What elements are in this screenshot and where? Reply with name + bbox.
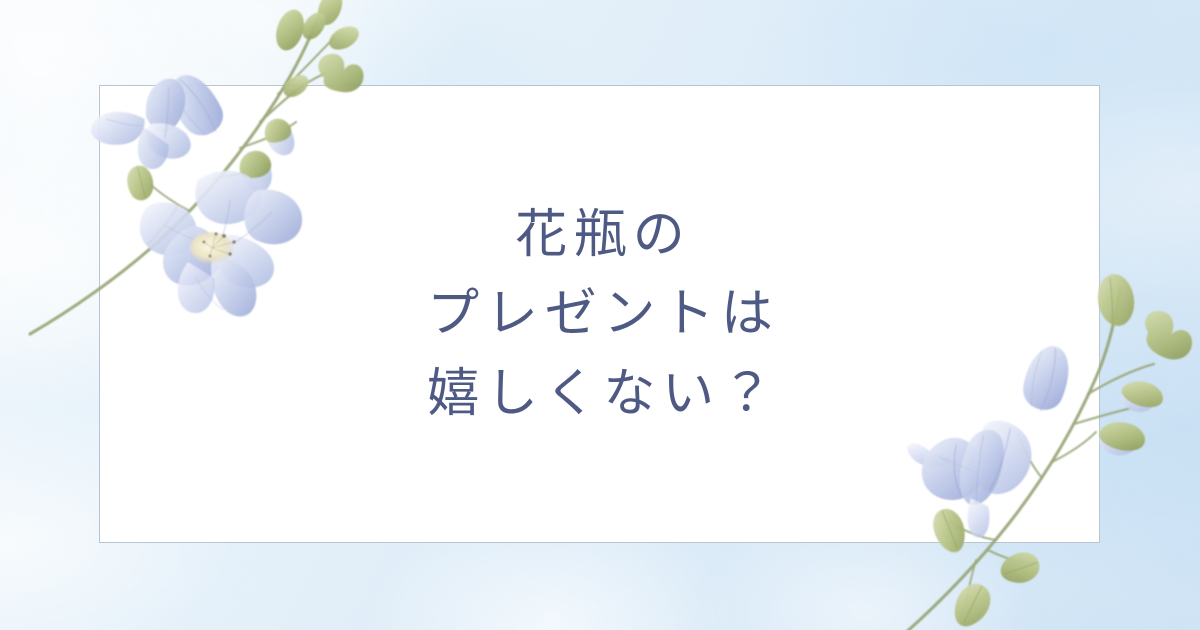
content-card xyxy=(99,85,1100,543)
thumbnail-canvas: 花瓶の プレゼントは 嬉しくない？ xyxy=(0,0,1200,630)
